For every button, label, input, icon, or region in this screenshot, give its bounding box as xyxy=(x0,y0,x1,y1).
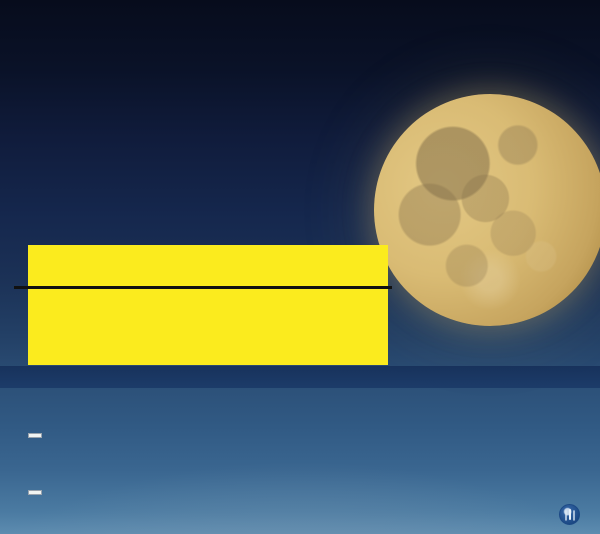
full-moon-image xyxy=(374,94,600,326)
infographic-poster xyxy=(0,0,600,534)
fact-row xyxy=(28,424,584,447)
footer-credit xyxy=(559,504,586,525)
fact-time-tag xyxy=(28,490,42,495)
timeline-axis xyxy=(14,286,392,289)
fact-time-tag xyxy=(28,433,42,438)
timeline-panel xyxy=(28,245,388,365)
fact-row xyxy=(28,481,584,504)
xinhua-logo-icon xyxy=(559,504,580,525)
section-band xyxy=(0,366,600,388)
